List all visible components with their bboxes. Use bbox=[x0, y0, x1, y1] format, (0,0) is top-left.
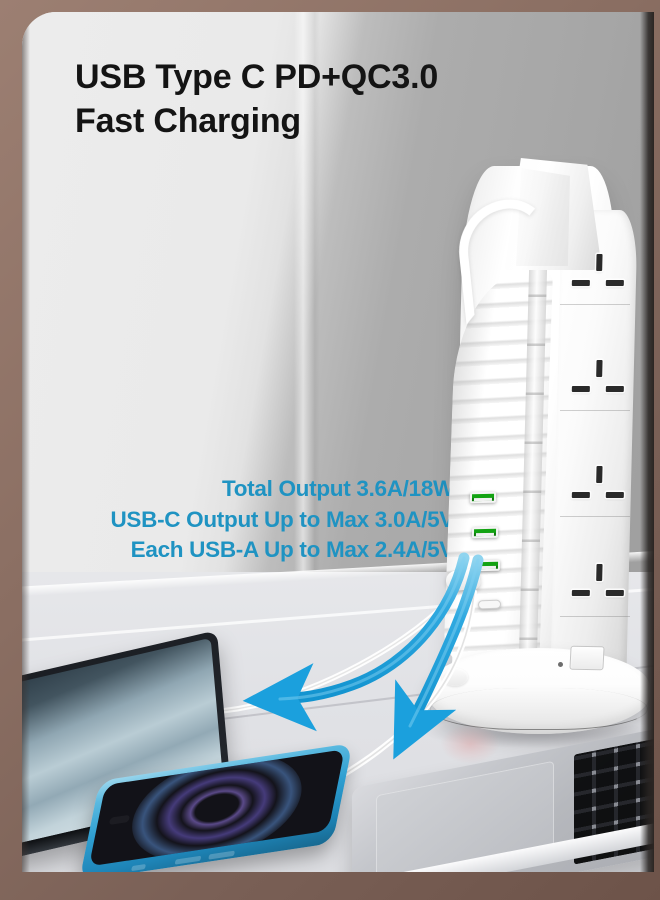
socket-earth-slot bbox=[596, 466, 602, 483]
uk-socket[interactable] bbox=[571, 564, 628, 610]
socket-divider bbox=[560, 616, 630, 617]
photo-right-edge-shadow bbox=[640, 12, 654, 872]
uk-socket[interactable] bbox=[571, 360, 628, 406]
socket-divider bbox=[560, 516, 630, 517]
image-frame: USB Type C PD+QC3.0 Fast Charging Total … bbox=[0, 0, 660, 900]
power-indicator-dot bbox=[558, 662, 563, 667]
photo-left-edge-shadow bbox=[22, 12, 30, 872]
socket-earth-slot bbox=[596, 254, 602, 271]
phone-notch bbox=[109, 814, 130, 824]
socket-divider bbox=[560, 410, 630, 411]
spec-line-usb-c-output: USB-C Output Up to Max 3.0A/5V bbox=[22, 505, 454, 536]
uk-socket[interactable] bbox=[571, 254, 628, 300]
socket-neutral-slot bbox=[606, 280, 624, 286]
usb-c-plug bbox=[445, 568, 481, 591]
tower-base-knob bbox=[442, 668, 468, 686]
usb-a-port[interactable] bbox=[474, 560, 500, 571]
socket-live-slot bbox=[572, 492, 590, 498]
uk-socket[interactable] bbox=[571, 466, 628, 512]
usb-a-port[interactable] bbox=[472, 527, 498, 538]
spec-line-usb-a-output: Each USB-A Up to Max 2.4A/5V bbox=[22, 535, 454, 566]
socket-earth-slot bbox=[596, 564, 602, 581]
socket-neutral-slot bbox=[606, 590, 624, 596]
page-title: USB Type C PD+QC3.0 Fast Charging bbox=[75, 55, 545, 143]
spec-list: Total Output 3.6A/18W USB-C Output Up to… bbox=[22, 474, 454, 566]
socket-earth-slot bbox=[596, 360, 602, 377]
usb-a-port[interactable] bbox=[470, 492, 496, 503]
power-strip-tower bbox=[420, 152, 654, 732]
power-switch[interactable] bbox=[569, 646, 604, 671]
socket-live-slot bbox=[572, 386, 590, 392]
socket-neutral-slot bbox=[606, 492, 624, 498]
laptop-device bbox=[352, 728, 654, 872]
socket-neutral-slot bbox=[606, 386, 624, 392]
spec-line-total-output: Total Output 3.6A/18W bbox=[22, 474, 454, 505]
product-photo: USB Type C PD+QC3.0 Fast Charging Total … bbox=[22, 12, 654, 872]
socket-live-slot bbox=[572, 590, 590, 596]
socket-live-slot bbox=[572, 280, 590, 286]
socket-divider bbox=[560, 304, 630, 305]
